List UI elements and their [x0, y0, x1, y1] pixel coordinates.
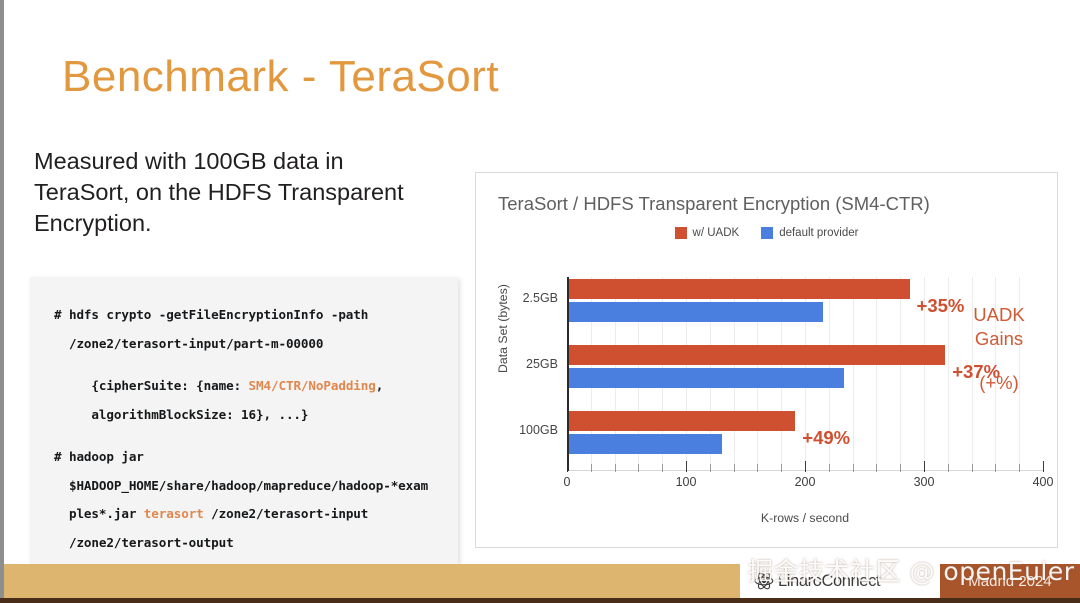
x-axis-minor-tick — [591, 464, 592, 472]
x-axis-minor-tick — [1019, 464, 1020, 472]
code-line-7-pre: ples*.jar — [54, 506, 144, 521]
x-axis-minor-tick — [972, 464, 973, 472]
annotation-line-2: Gains — [954, 327, 1044, 351]
legend-item-uadk: w/ UADK — [675, 227, 740, 239]
x-axis-tick-label: 200 — [795, 475, 816, 489]
code-gap — [54, 358, 454, 372]
x-axis-minor-tick — [829, 464, 830, 472]
footer-location-box: Madrid 2024 — [940, 564, 1080, 598]
x-axis-minor-tick — [948, 464, 949, 472]
x-axis-ticks: 0100200300400 — [567, 471, 1043, 501]
linaro-logo-text: LinaroConnect — [778, 572, 880, 591]
x-axis-minor-tick — [900, 464, 901, 472]
code-snippet-card: # hdfs crypto -getFileEncryptionInfo -pa… — [30, 277, 458, 564]
x-axis-tick-mark — [686, 461, 687, 472]
legend-swatch-default — [761, 227, 773, 239]
x-axis-tick-label: 0 — [564, 475, 571, 489]
atom-icon — [754, 571, 774, 591]
legend-item-default: default provider — [761, 227, 858, 239]
x-axis-minor-tick — [734, 464, 735, 472]
annotation-line-1: UADK — [954, 303, 1044, 327]
x-axis-minor-tick — [615, 464, 616, 472]
code-line-4: algorithmBlockSize: 16}, ...} — [54, 407, 308, 422]
gain-label: +49% — [802, 427, 850, 449]
x-axis-minor-tick — [781, 464, 782, 472]
code-line-6: $HADOOP_HOME/share/hadoop/mapreduce/hado… — [54, 478, 428, 493]
slide-left-edge — [0, 0, 4, 603]
page-title: Benchmark - TeraSort — [62, 52, 499, 103]
legend-label-uadk: w/ UADK — [693, 227, 740, 239]
code-line-7-post: /zone2/terasort-input — [204, 506, 369, 521]
chart-title: TeraSort / HDFS Transparent Encryption (… — [498, 193, 930, 215]
linaro-logo: LinaroConnect — [740, 571, 880, 591]
footer-brand-box: LinaroConnect — [740, 564, 940, 598]
x-axis-minor-tick — [995, 464, 996, 472]
footer-location-text: Madrid 2024 — [968, 573, 1051, 590]
code-line-3-pre: {cipherSuite: {name: — [54, 378, 249, 393]
x-axis-minor-tick — [710, 464, 711, 472]
footer-bottom-edge — [0, 598, 1080, 603]
y-axis-tick-label: 25GB — [526, 357, 558, 371]
uadk-gains-annotation: UADK Gains (+%) — [954, 303, 1044, 395]
x-axis-minor-tick — [757, 464, 758, 472]
bar-uadk[interactable] — [568, 345, 945, 365]
bar-default[interactable] — [568, 302, 823, 322]
code-line-3-highlight: SM4/CTR/NoPadding — [249, 378, 376, 393]
bar-group: 100GB+49% — [567, 411, 1043, 455]
annotation-line-3: (+%) — [954, 371, 1044, 395]
bar-uadk[interactable] — [568, 279, 910, 299]
x-axis-minor-tick — [662, 464, 663, 472]
y-axis-tick-label: 2.5GB — [523, 291, 558, 305]
x-axis-minor-tick — [876, 464, 877, 472]
legend-swatch-uadk — [675, 227, 687, 239]
x-axis-tick-label: 300 — [914, 475, 935, 489]
x-axis-tick-mark — [924, 461, 925, 472]
chart-legend: w/ UADK default provider — [476, 227, 1057, 239]
code-gap-2 — [54, 429, 454, 443]
y-axis-line — [567, 277, 569, 471]
code-line-3-post: , — [376, 378, 383, 393]
code-snippet-text: # hdfs crypto -getFileEncryptionInfo -pa… — [54, 301, 454, 557]
x-axis-tick-label: 100 — [676, 475, 697, 489]
legend-label-default: default provider — [779, 227, 858, 239]
x-axis-minor-tick — [853, 464, 854, 472]
code-line-7-highlight: terasort — [144, 506, 204, 521]
x-axis-title: K-rows / second — [567, 511, 1043, 525]
bar-uadk[interactable] — [568, 411, 795, 431]
slide-body-text: Measured with 100GB data in TeraSort, on… — [34, 146, 434, 239]
code-line-8: /zone2/terasort-output — [54, 535, 234, 550]
y-axis-title: Data Set (bytes) — [496, 284, 510, 373]
code-line-5: # hadoop jar — [54, 449, 144, 464]
x-axis-tick-mark — [805, 461, 806, 472]
y-axis-tick-label: 100GB — [519, 423, 558, 437]
chart-panel: TeraSort / HDFS Transparent Encryption (… — [475, 172, 1058, 548]
code-line-1: # hdfs crypto -getFileEncryptionInfo -pa… — [54, 307, 368, 322]
x-axis-minor-tick — [638, 464, 639, 472]
x-axis-tick-label: 400 — [1033, 475, 1054, 489]
bar-default[interactable] — [568, 434, 722, 454]
x-axis-tick-mark — [1043, 461, 1044, 472]
bar-default[interactable] — [568, 368, 844, 388]
code-line-2: /zone2/terasort-input/part-m-00000 — [54, 336, 323, 351]
